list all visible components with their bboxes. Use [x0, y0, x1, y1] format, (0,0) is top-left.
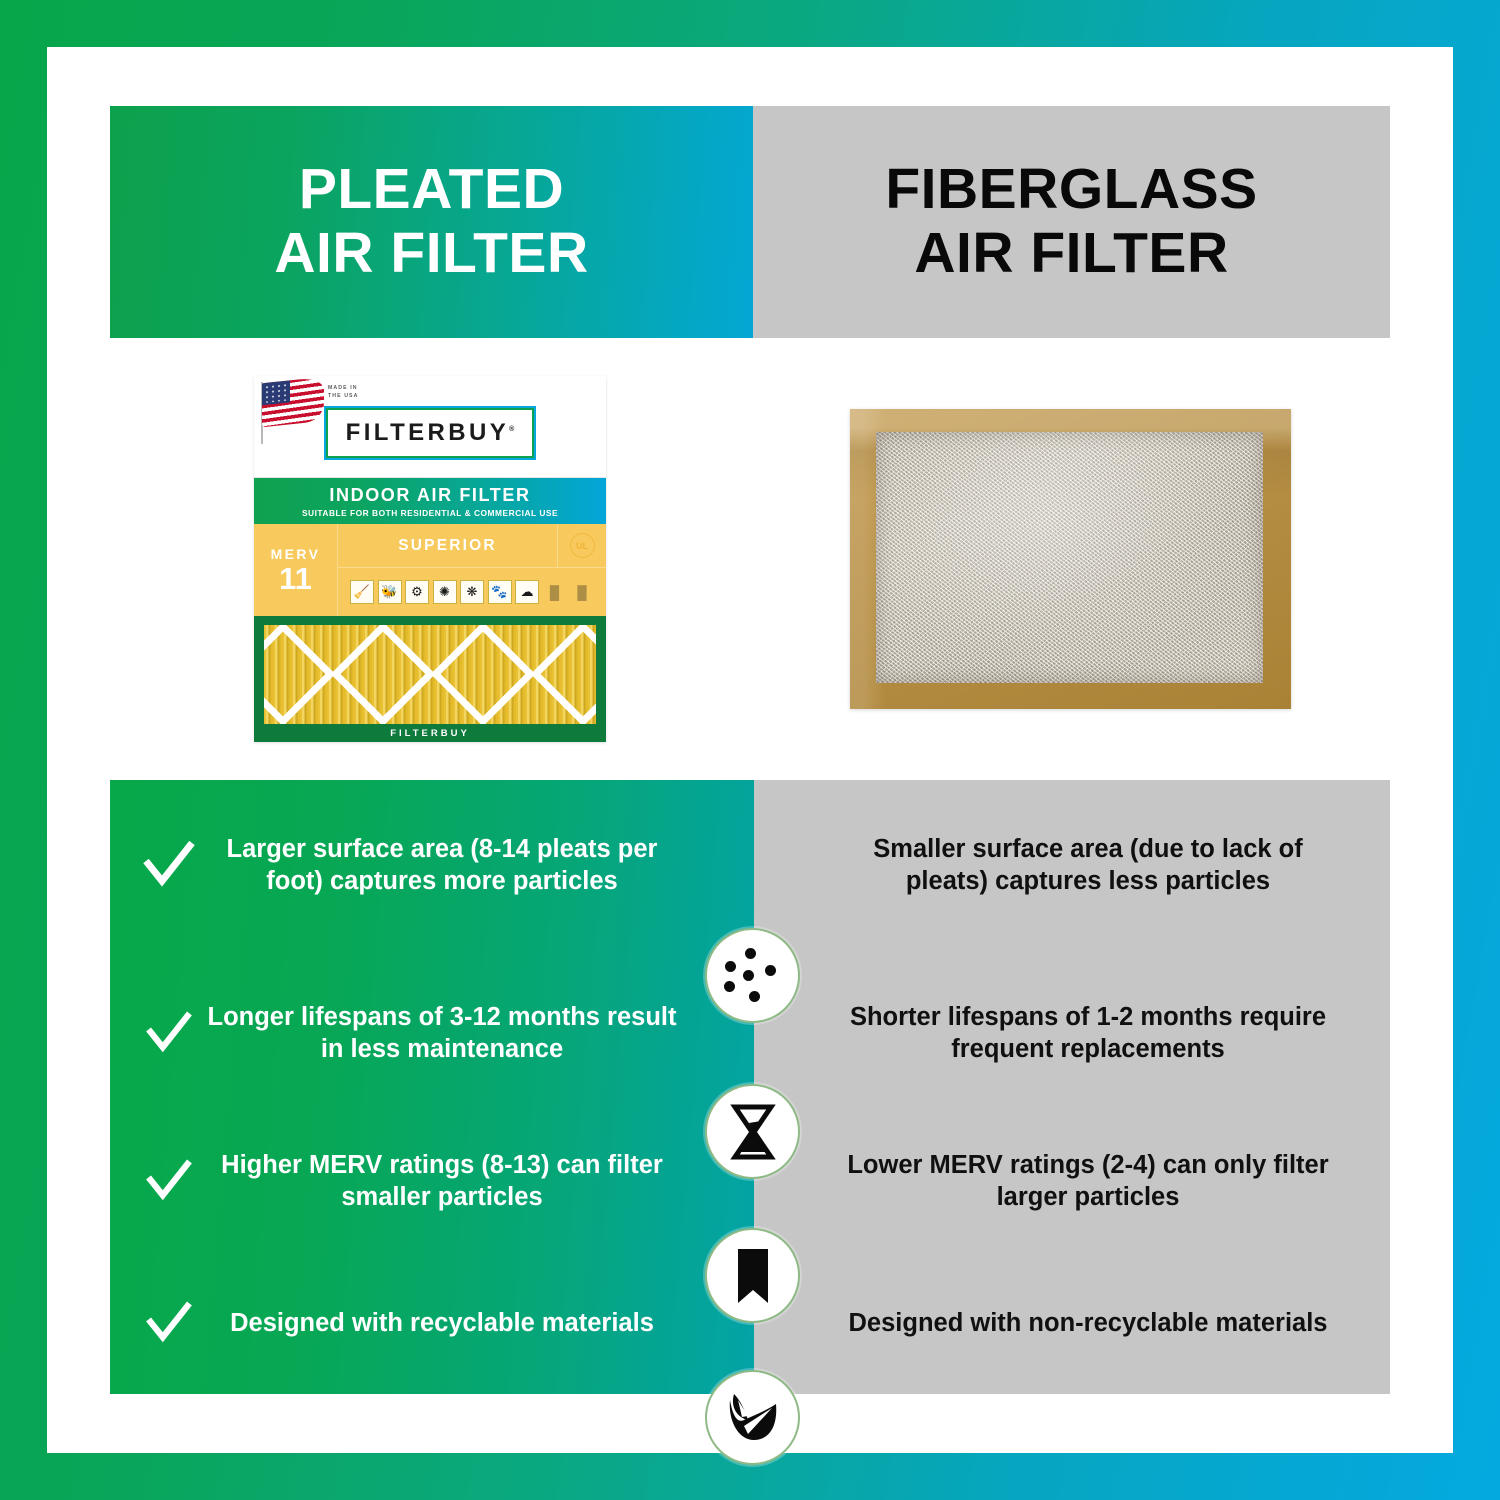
particle-dot: [765, 965, 776, 976]
comparison-rows: Larger surface area (8-14 pleats per foo…: [110, 106, 1390, 720]
comparison-infographic: PLEATED AIR FILTER FIBERGLASS AIR FILTER: [110, 106, 1390, 1394]
row-3-pleated-cell: Higher MERV ratings (8-13) can filter sm…: [110, 1116, 754, 1246]
infographic-page: PLEATED AIR FILTER FIBERGLASS AIR FILTER: [0, 0, 1500, 1500]
row-3-fiberglass-cell: Lower MERV ratings (2-4) can only filter…: [754, 1116, 1390, 1246]
row-4-fiberglass-text: Designed with non-recyclable materials: [754, 1307, 1390, 1339]
row-4-pleated-cell: Designed with recyclable materials: [110, 1258, 754, 1388]
particle-dot: [749, 991, 760, 1002]
row-1-pleated-text: Larger surface area (8-14 pleats per foo…: [200, 833, 754, 897]
row-4-fiberglass-cell: Designed with non-recyclable materials: [754, 1258, 1390, 1388]
particle-dot: [745, 948, 756, 959]
row-3-pleated-text: Higher MERV ratings (8-13) can filter sm…: [200, 1149, 754, 1213]
particle-dot: [725, 961, 736, 972]
hourglass-icon: [705, 1084, 800, 1179]
check-icon: [138, 1009, 200, 1057]
row-1-fiberglass-cell: Smaller surface area (due to lack of ple…: [754, 780, 1390, 950]
particle-dot: [724, 981, 735, 992]
bookmark-icon: [705, 1228, 800, 1323]
check-icon: [138, 839, 200, 891]
table-row: Larger surface area (8-14 pleats per foo…: [110, 780, 1390, 950]
row-2-pleated-text: Longer lifespans of 3-12 months result i…: [200, 1001, 754, 1065]
row-3-fiberglass-text: Lower MERV ratings (2-4) can only filter…: [754, 1149, 1390, 1213]
particle-dot: [743, 970, 754, 981]
particles-dots: [723, 948, 783, 1004]
row-1-pleated-cell: Larger surface area (8-14 pleats per foo…: [110, 780, 754, 950]
row-2-pleated-cell: Longer lifespans of 3-12 months result i…: [110, 968, 754, 1098]
row-2-fiberglass-cell: Shorter lifespans of 1-2 months require …: [754, 968, 1390, 1098]
pleated-footer-brand: FILTERBUY: [254, 728, 606, 739]
row-2-fiberglass-text: Shorter lifespans of 1-2 months require …: [754, 1001, 1390, 1065]
row-1-fiberglass-text: Smaller surface area (due to lack of ple…: [754, 833, 1390, 897]
check-icon: [138, 1157, 200, 1205]
leaf-icon: [705, 1370, 800, 1465]
particles-icon: [705, 928, 800, 1023]
row-4-pleated-text: Designed with recyclable materials: [200, 1307, 754, 1339]
check-icon: [138, 1299, 200, 1347]
